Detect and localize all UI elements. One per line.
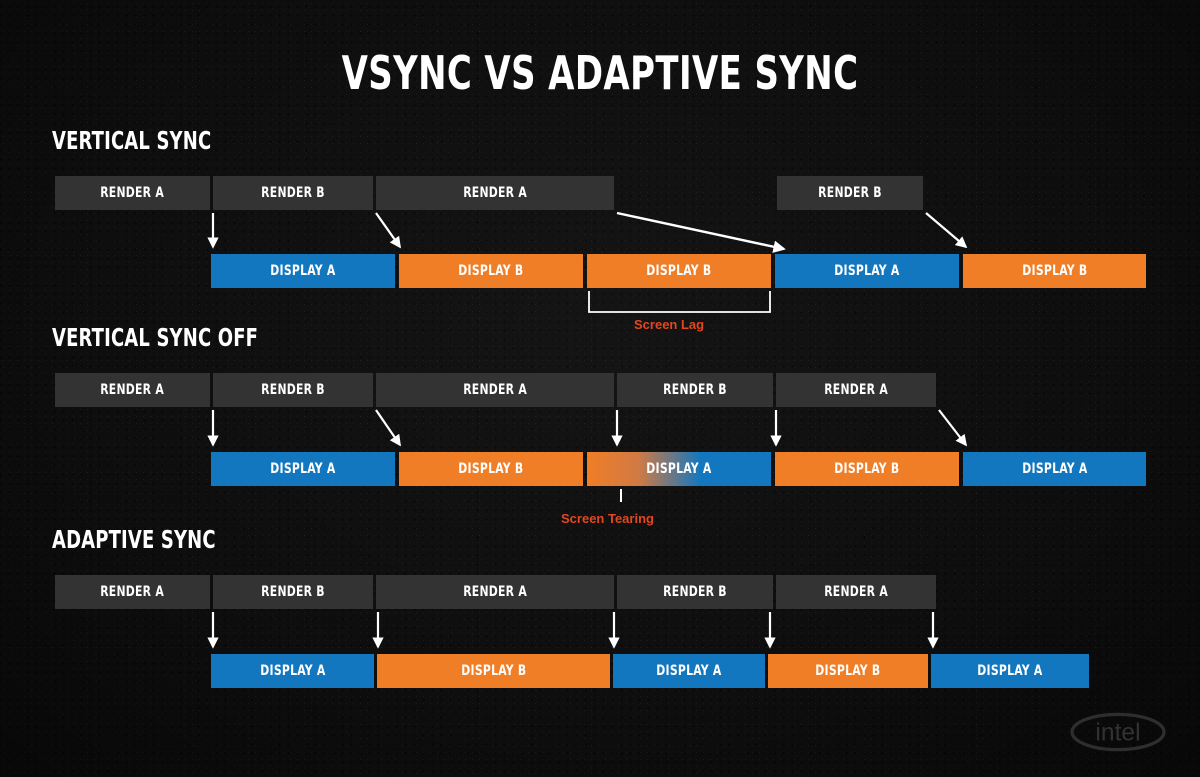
display-block-label: DISPLAY B bbox=[458, 461, 523, 477]
render-block: RENDER A bbox=[55, 575, 210, 609]
display-block: DISPLAY B bbox=[399, 452, 583, 486]
render-block: RENDER B bbox=[617, 373, 773, 407]
render-block: RENDER B bbox=[213, 575, 373, 609]
render-block: RENDER A bbox=[55, 176, 210, 210]
display-block: DISPLAY A bbox=[211, 254, 395, 288]
section-heading-vertical-sync-off: VERTICAL SYNC OFF bbox=[52, 325, 258, 350]
render-block: RENDER A bbox=[55, 373, 210, 407]
display-block: DISPLAY B bbox=[768, 654, 928, 688]
render-block: RENDER A bbox=[776, 575, 936, 609]
display-block-label: DISPLAY B bbox=[1022, 263, 1087, 279]
display-block: DISPLAY A bbox=[211, 654, 374, 688]
display-block: DISPLAY A bbox=[613, 654, 765, 688]
intel-logo-text: intel bbox=[1095, 720, 1140, 747]
render-block: RENDER B bbox=[777, 176, 923, 210]
render-block: RENDER B bbox=[617, 575, 773, 609]
render-block-label: RENDER B bbox=[261, 584, 325, 600]
section-heading-adaptive-sync: ADAPTIVE SYNC bbox=[52, 527, 216, 552]
render-block-label: RENDER A bbox=[463, 584, 527, 600]
render-block-label: RENDER A bbox=[463, 185, 527, 201]
render-block: RENDER B bbox=[213, 373, 373, 407]
render-block-label: RENDER B bbox=[663, 584, 727, 600]
render-block: RENDER A bbox=[776, 373, 936, 407]
display-block: DISPLAY A bbox=[963, 452, 1146, 486]
render-block: RENDER A bbox=[376, 373, 614, 407]
display-block-label: DISPLAY B bbox=[461, 663, 526, 679]
display-block-label: DISPLAY B bbox=[646, 263, 711, 279]
screen-lag-annotation: Screen Lag bbox=[634, 317, 704, 332]
display-block-label: DISPLAY A bbox=[1022, 461, 1087, 477]
render-block-label: RENDER A bbox=[463, 382, 527, 398]
render-block-label: RENDER B bbox=[261, 382, 325, 398]
display-block-label: DISPLAY A bbox=[646, 461, 711, 477]
infographic-page: VSYNC VS ADAPTIVE SYNC VERTICAL SYNC REN… bbox=[0, 0, 1200, 777]
display-block-label: DISPLAY B bbox=[834, 461, 899, 477]
screen-tearing-annotation: Screen Tearing bbox=[561, 511, 654, 526]
display-block-torn: DISPLAY A bbox=[587, 452, 771, 486]
display-block-label: DISPLAY A bbox=[260, 663, 325, 679]
display-block: DISPLAY B bbox=[587, 254, 771, 288]
display-block-label: DISPLAY A bbox=[270, 461, 335, 477]
display-block: DISPLAY B bbox=[775, 452, 959, 486]
display-block: DISPLAY B bbox=[399, 254, 583, 288]
render-block-label: RENDER B bbox=[261, 185, 325, 201]
render-block-label: RENDER A bbox=[101, 185, 165, 201]
render-block-label: RENDER A bbox=[101, 584, 165, 600]
display-block: DISPLAY A bbox=[775, 254, 959, 288]
render-block: RENDER B bbox=[213, 176, 373, 210]
display-block-label: DISPLAY A bbox=[977, 663, 1042, 679]
render-block-label: RENDER A bbox=[824, 584, 888, 600]
display-block: DISPLAY A bbox=[211, 452, 395, 486]
display-block: DISPLAY A bbox=[931, 654, 1089, 688]
display-block-label: DISPLAY B bbox=[815, 663, 880, 679]
intel-logo: intel bbox=[1064, 709, 1172, 755]
section-heading-vertical-sync: VERTICAL SYNC bbox=[52, 128, 211, 153]
display-block-label: DISPLAY A bbox=[834, 263, 899, 279]
render-block-label: RENDER B bbox=[818, 185, 882, 201]
display-block-label: DISPLAY A bbox=[270, 263, 335, 279]
page-title: VSYNC VS ADAPTIVE SYNC bbox=[108, 50, 1092, 96]
render-block: RENDER A bbox=[376, 176, 614, 210]
render-block-label: RENDER A bbox=[101, 382, 165, 398]
render-block-label: RENDER B bbox=[663, 382, 727, 398]
display-block-label: DISPLAY B bbox=[458, 263, 523, 279]
display-block: DISPLAY B bbox=[963, 254, 1146, 288]
render-block: RENDER A bbox=[376, 575, 614, 609]
display-block-label: DISPLAY A bbox=[656, 663, 721, 679]
display-block: DISPLAY B bbox=[377, 654, 610, 688]
render-block-label: RENDER A bbox=[824, 382, 888, 398]
